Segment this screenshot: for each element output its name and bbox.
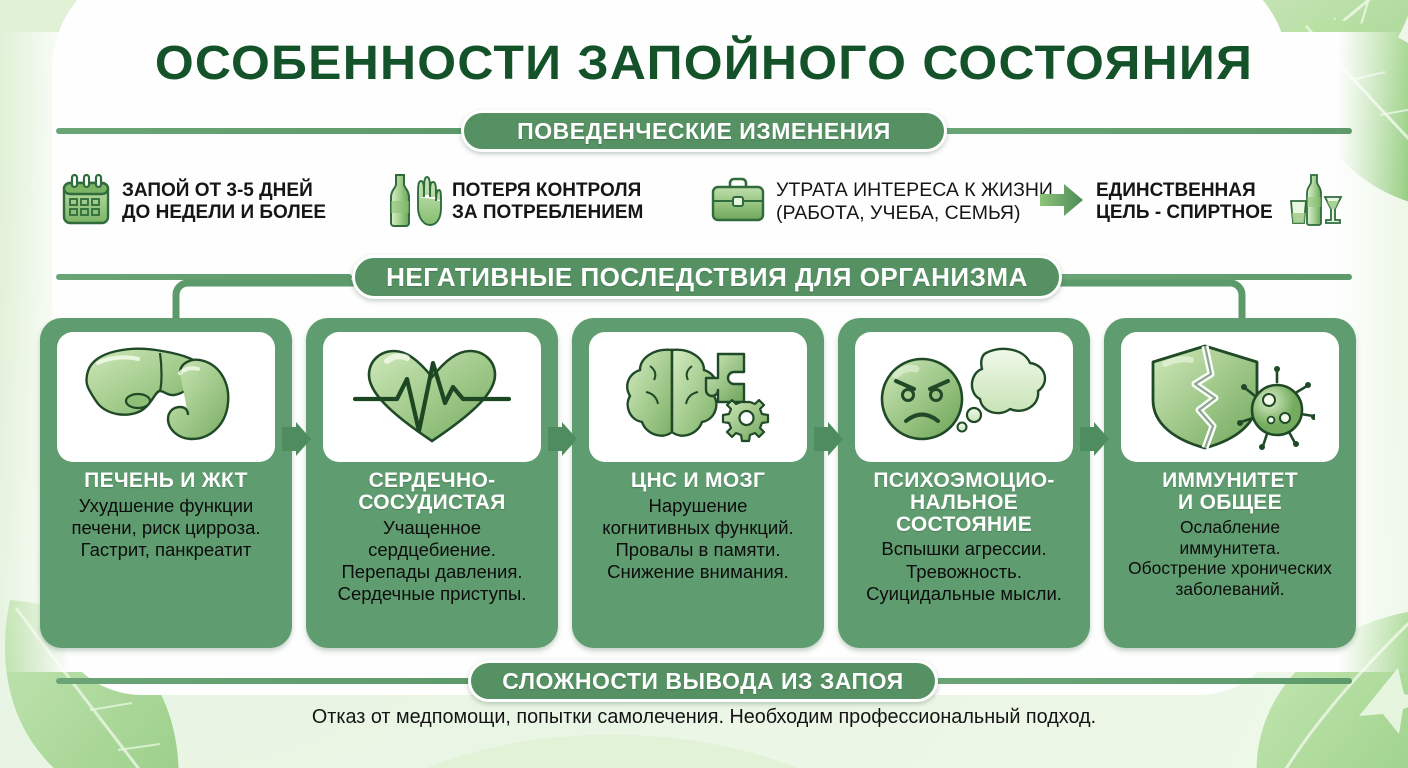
card-arrow-3 [814,422,844,456]
liver-stomach-icon [57,332,275,462]
banner-rule-left-difficulties [56,678,474,684]
card-arrow-1 [282,422,312,456]
behavior-item-2: ПОТЕРЯ КОНТРОЛЯ ЗА ПОТРЕБЛЕНИЕМ [380,171,710,234]
behavior-item-3: УТРАТА ИНТЕРЕСА К ЖИЗНИ (РАБОТА, УЧЕБА, … [710,175,1040,230]
card-immunity[interactable]: ИММУНИТЕТ И ОБЩЕЕ Ослабление иммунитета.… [1104,318,1356,648]
behavior-item-1-line2: ДО НЕДЕЛИ И БОЛЕЕ [122,202,326,224]
bottle-glasses-icon [1287,171,1345,234]
card-cns-brain[interactable]: ЦНС И МОЗГ Нарушение когнитивных функций… [572,318,824,648]
banner-behavioral-changes: ПОВЕДЕНЧЕСКИЕ ИЗМЕНЕНИЯ [461,110,947,152]
heart-pulse-icon [323,332,541,462]
card-cardiovascular[interactable]: СЕРДЕЧНО- СОСУДИСТАЯ Учащенное сердцебие… [306,318,558,648]
banner-behavioral-changes-label: ПОВЕДЕНЧЕСКИЕ ИЗМЕНЕНИЯ [517,118,891,145]
consequence-cards-row: ПЕЧЕНЬ И ЖКТ Ухудшение функции печени, р… [40,318,1370,648]
behavior-item-4-line1: ЕДИНСТВЕННАЯ [1096,180,1273,202]
card-liver-gi-body: Ухудшение функции печени, риск цирроза. … [71,495,260,562]
behavior-item-4: ЕДИНСТВЕННАЯ ЦЕЛЬ - СПИРТНОЕ [1040,171,1350,234]
brain-gear-icon [589,332,807,462]
card-immunity-body: Ослабление иммунитета. Обострение хронич… [1128,517,1332,601]
banner-rule-left-behavior [56,128,466,134]
behavior-items-row: ЗАПОЙ ОТ 3-5 ДНЕЙ ДО НЕДЕЛИ И БОЛЕЕ ПОТ [60,162,1360,242]
card-psychoemotional-body: Вспышки агрессии. Тревожность. Суицидаль… [866,538,1062,605]
behavior-item-4-line2: ЦЕЛЬ - СПИРТНОЕ [1096,202,1273,224]
card-liver-gi-title: ПЕЧЕНЬ И ЖКТ [84,470,248,492]
banner-rule-right-behavior [942,128,1352,134]
page-title: ОСОБЕННОСТИ ЗАПОЙНОГО СОСТОЯНИЯ [0,36,1408,91]
card-cns-brain-body: Нарушение когнитивных функций. Провалы в… [602,495,793,584]
banner-negative-consequences: НЕГАТИВНЫЕ ПОСЛЕДСТВИЯ ДЛЯ ОРГАНИЗМА [352,255,1062,299]
behavior-item-2-line2: ЗА ПОТРЕБЛЕНИЕМ [452,202,643,224]
behavior-item-3-line2: (РАБОТА, УЧЕБА, СЕМЬЯ) [776,202,1053,225]
banner-rule-right-difficulties [932,678,1352,684]
calendar-icon [60,173,112,232]
card-psychoemotional-title: ПСИХОЭМОЦИО- НАЛЬНОЕ СОСТОЯНИЕ [873,470,1054,535]
broken-shield-virus-icon [1121,332,1339,462]
briefcase-icon [710,175,766,230]
card-liver-gi[interactable]: ПЕЧЕНЬ И ЖКТ Ухудшение функции печени, р… [40,318,292,648]
card-cardiovascular-body: Учащенное сердцебиение. Перепады давлени… [338,517,527,606]
behavior-item-2-line1: ПОТЕРЯ КОНТРОЛЯ [452,180,643,202]
banner-withdrawal-difficulties: СЛОЖНОСТИ ВЫВОДА ИЗ ЗАПОЯ [468,660,938,702]
banner-negative-consequences-label: НЕГАТИВНЫЕ ПОСЛЕДСТВИЯ ДЛЯ ОРГАНИЗМА [386,262,1028,293]
card-immunity-title: ИММУНИТЕТ И ОБЩЕЕ [1162,470,1298,514]
behavior-item-1: ЗАПОЙ ОТ 3-5 ДНЕЙ ДО НЕДЕЛИ И БОЛЕЕ [60,173,380,232]
card-cardiovascular-title: СЕРДЕЧНО- СОСУДИСТАЯ [358,470,505,514]
card-psychoemotional[interactable]: ПСИХОЭМОЦИО- НАЛЬНОЕ СОСТОЯНИЕ Вспышки а… [838,318,1090,648]
behavior-item-3-line1: УТРАТА ИНТЕРЕСА К ЖИЗНИ [776,179,1053,202]
card-cns-brain-title: ЦНС И МОЗГ [631,470,765,492]
behavior-item-1-line1: ЗАПОЙ ОТ 3-5 ДНЕЙ [122,180,326,202]
angry-face-thought-icon [855,332,1073,462]
arrow-right-icon [1040,183,1084,222]
footer-note: Отказ от медпомощи, попытки самолечения.… [7,706,1401,729]
banner-withdrawal-difficulties-label: СЛОЖНОСТИ ВЫВОДА ИЗ ЗАПОЯ [502,668,903,695]
card-arrow-4 [1080,422,1110,456]
card-arrow-2 [548,422,578,456]
bottle-hand-icon [380,171,442,234]
